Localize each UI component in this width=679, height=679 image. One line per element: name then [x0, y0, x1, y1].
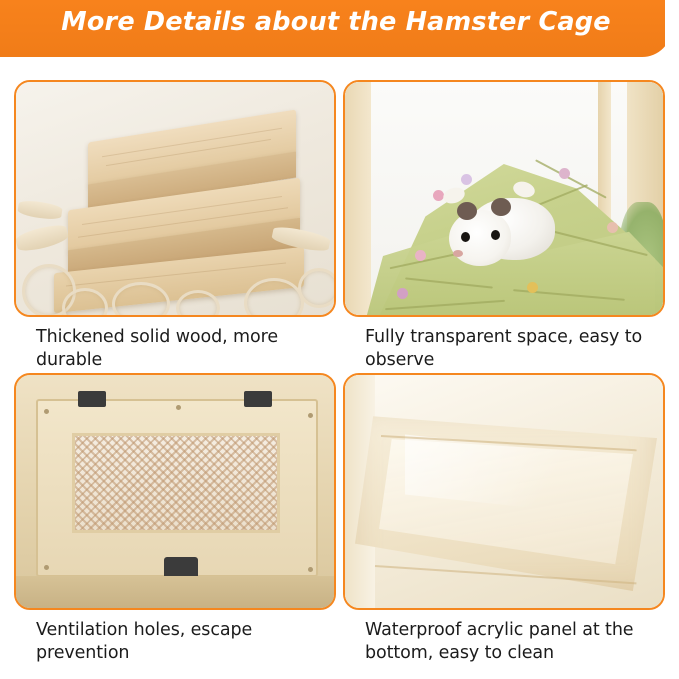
cage-floor-edge [16, 576, 336, 608]
feature-caption: Thickened solid wood, more durable [14, 326, 336, 373]
dried-flower [559, 168, 570, 179]
wood-shaving-curl [298, 268, 336, 308]
dried-flower [607, 222, 618, 233]
screw [308, 567, 313, 572]
screw [308, 413, 313, 418]
header-banner: More Details about the Hamster Cage [0, 0, 679, 62]
hamster-ear [491, 198, 511, 216]
feature-card-acrylic-panel: Waterproof acrylic panel at the bottom, … [343, 373, 665, 666]
feature-card-transparent-space: Fully transparent space, easy to observe [343, 80, 665, 373]
photo-ventilation [14, 373, 336, 610]
feature-grid: Thickened solid wood, more durable [0, 62, 679, 679]
photo-solid-wood [14, 80, 336, 317]
ventilation-mesh [72, 433, 280, 533]
feature-card-ventilation: Ventilation holes, escape prevention [14, 373, 336, 666]
hamster-ear [457, 202, 477, 220]
cage-frame-left [345, 82, 371, 317]
screw [44, 565, 49, 570]
photo-transparent-space [343, 80, 665, 317]
dried-flower [397, 288, 408, 299]
hamster-face [449, 210, 511, 266]
photo-acrylic-panel [343, 373, 665, 610]
feature-caption: Waterproof acrylic panel at the bottom, … [343, 619, 665, 666]
dried-flower [527, 282, 538, 293]
feature-card-solid-wood: Thickened solid wood, more durable [14, 80, 336, 373]
dried-flower [461, 174, 472, 185]
product-feature-page: More Details about the Hamster Cage [0, 0, 679, 679]
hamster-nose [453, 250, 463, 257]
screw [176, 405, 181, 410]
hamster-eye [491, 230, 500, 240]
door-hinge [78, 391, 106, 407]
feature-caption: Ventilation holes, escape prevention [14, 619, 336, 666]
page-title: More Details about the Hamster Cage [0, 7, 672, 37]
screw [44, 409, 49, 414]
dried-flower [415, 250, 426, 261]
door-hinge [244, 391, 272, 407]
feature-caption: Fully transparent space, easy to observe [343, 326, 665, 373]
hamster-eye [461, 232, 470, 242]
